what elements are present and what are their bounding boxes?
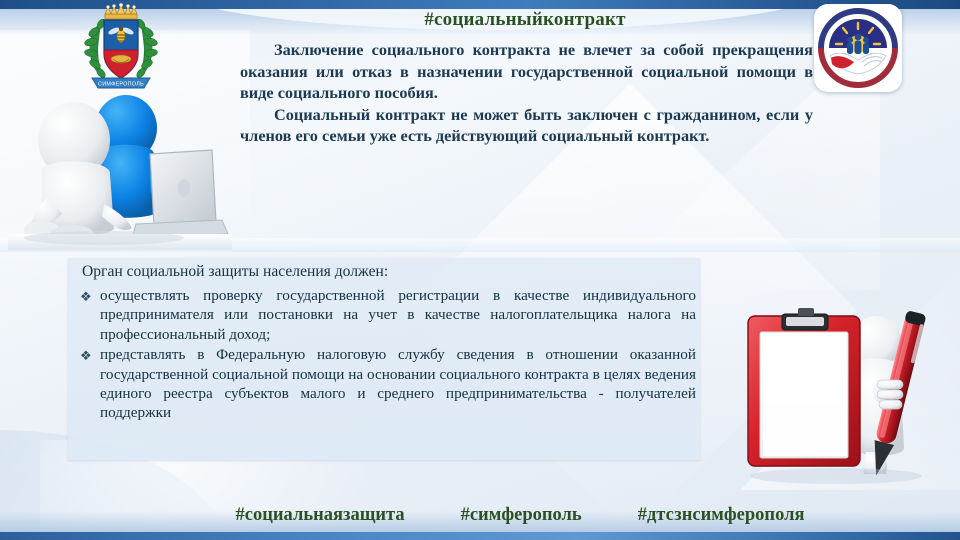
list-item: ❖ осуществлять проверку государственной … — [72, 286, 696, 344]
page-title: #социальныйконтракт — [240, 9, 810, 31]
hashtag-simferopol[interactable]: #симферополь — [461, 505, 582, 526]
intro-paragraph-2: Социальный контракт не может быть заключ… — [240, 104, 813, 147]
intro-paragraph-1: Заключение социального контракта не влеч… — [240, 39, 813, 104]
figures-at-laptop-illustration — [8, 78, 232, 250]
list-item: ❖ представлять в Федеральную налоговую с… — [72, 345, 696, 423]
panel-title: Орган социальной защиты населения должен… — [82, 263, 388, 281]
bottom-blue-band — [0, 532, 960, 540]
intro-paragraphs: Заключение социального контракта не влеч… — [240, 39, 813, 147]
footer-hashtags: #социальнаязащита #симферополь #дтсзнсим… — [0, 505, 960, 526]
list-item-text: представлять в Федеральную налоговую слу… — [100, 346, 696, 421]
clipboard-and-pen-illustration — [736, 306, 946, 486]
list-item-text: осуществлять проверку государственной ре… — [100, 287, 696, 343]
requirements-panel: Орган социальной защиты населения должен… — [68, 258, 700, 460]
diamond-bullet-icon: ❖ — [80, 346, 92, 365]
department-emblem-icon — [814, 4, 902, 92]
requirements-list: ❖ осуществлять проверку государственной … — [72, 286, 696, 424]
hashtag-dtszn-simferopolya[interactable]: #дтсзнсимферополя — [638, 505, 805, 526]
diamond-bullet-icon: ❖ — [80, 287, 92, 306]
slide-canvas: СИМФЕРОПОЛЬ — [0, 0, 960, 540]
hashtag-socialnayazashchita[interactable]: #социальнаязащита — [236, 505, 405, 526]
